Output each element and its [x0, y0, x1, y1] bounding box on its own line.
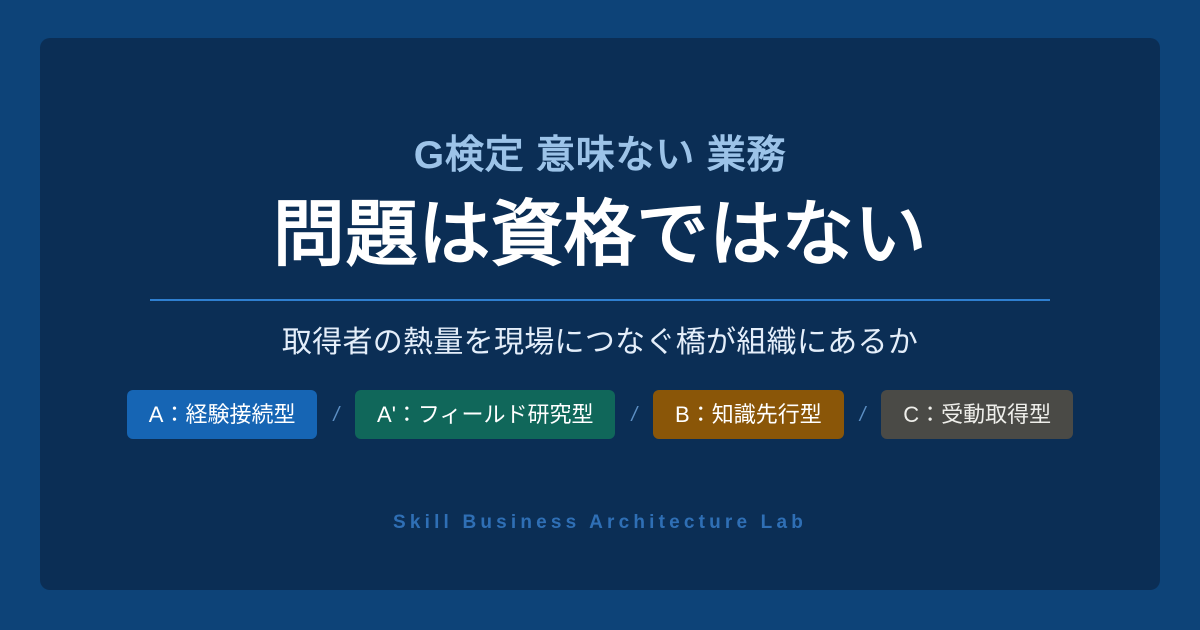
- badge-type-a: A：経験接続型: [127, 390, 318, 439]
- footer-brand: Skill Business Architecture Lab: [40, 512, 1160, 534]
- ogp-stage: G検定 意味ない 業務 問題は資格ではない 取得者の熱量を現場につなぐ橋が組織に…: [0, 0, 1200, 630]
- badge-type-c-label: C：受動取得型: [903, 404, 1051, 426]
- title-divider: [150, 299, 1050, 301]
- badge-type-a-prime: A'：フィールド研究型: [355, 390, 615, 439]
- badge-type-c: C：受動取得型: [881, 390, 1073, 439]
- badge-type-b-label: B：知識先行型: [675, 404, 822, 426]
- page-title: 問題は資格ではない: [273, 195, 927, 276]
- badge-type-a-prime-label: A'：フィールド研究型: [377, 404, 593, 426]
- badge-separator-1: /: [317, 405, 355, 425]
- badge-type-b: B：知識先行型: [653, 390, 844, 439]
- badge-separator-2: /: [615, 405, 653, 425]
- badge-row: A：経験接続型 / A'：フィールド研究型 / B：知識先行型 / C：受動取得…: [127, 390, 1073, 439]
- ogp-card: G検定 意味ない 業務 問題は資格ではない 取得者の熱量を現場につなぐ橋が組織に…: [40, 38, 1160, 590]
- subtitle: 取得者の熱量を現場につなぐ橋が組織にあるか: [282, 323, 918, 362]
- eyebrow-keywords: G検定 意味ない 業務: [414, 134, 787, 179]
- badge-separator-3: /: [844, 405, 882, 425]
- badge-type-a-label: A：経験接続型: [149, 404, 296, 426]
